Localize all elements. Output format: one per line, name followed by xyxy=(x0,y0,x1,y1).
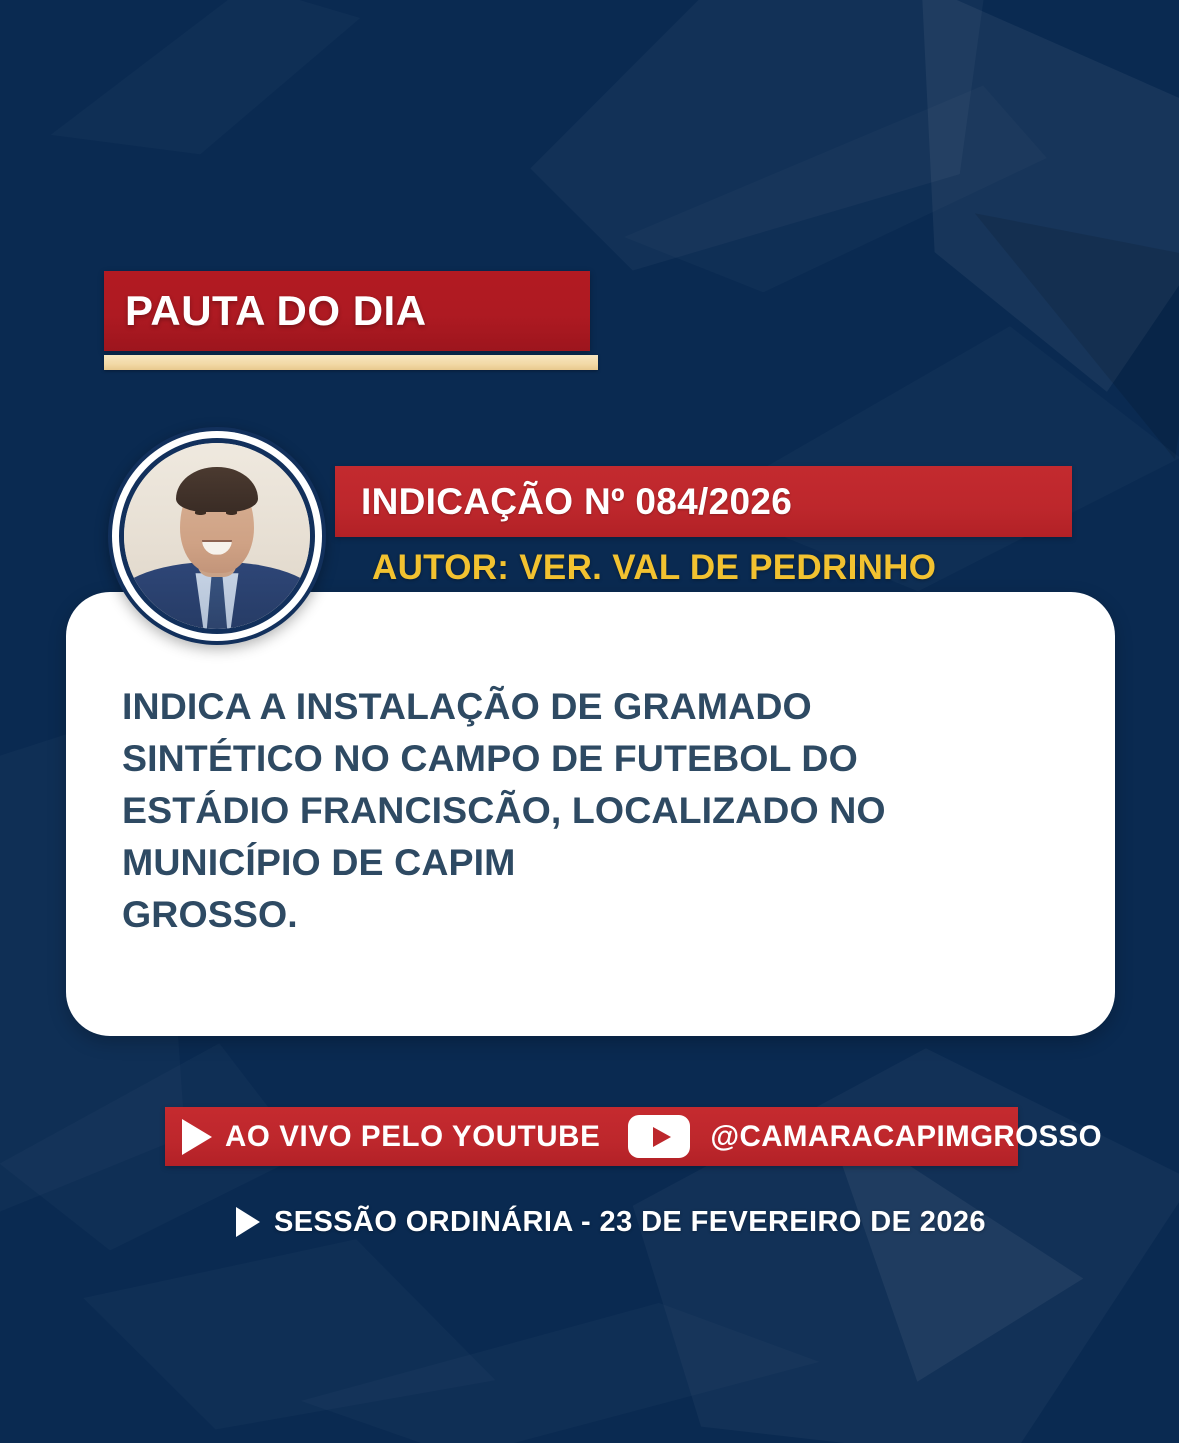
ementa-line: MUNICÍPIO DE CAPIM xyxy=(122,836,1052,888)
ementa-text: INDICA A INSTALAÇÃO DE GRAMADO SINTÉTICO… xyxy=(122,680,1052,940)
ementa-line: INDICA A INSTALAÇÃO DE GRAMADO xyxy=(122,680,1052,732)
background-texture-shape xyxy=(609,77,1060,312)
session-info: SESSÃO ORDINÁRIA - 23 DE FEVEREIRO DE 20… xyxy=(236,1200,986,1244)
ementa-line: SINTÉTICO NO CAMPO DE FUTEBOL DO xyxy=(122,732,1052,784)
live-label: AO VIVO PELO YOUTUBE xyxy=(225,1120,600,1154)
youtube-handle[interactable]: @CAMARACAPIMGROSSO xyxy=(710,1120,1102,1154)
session-label: SESSÃO ORDINÁRIA - 23 DE FEVEREIRO DE 20… xyxy=(274,1206,986,1239)
indicacao-number-label: INDICAÇÃO Nº 084/2026 xyxy=(335,481,792,523)
youtube-logo-icon xyxy=(628,1115,690,1158)
indicacao-number-band: INDICAÇÃO Nº 084/2026 xyxy=(335,466,1072,537)
author-label: AUTOR: VER. VAL DE PEDRINHO xyxy=(372,548,936,588)
ementa-card: INDICA A INSTALAÇÃO DE GRAMADO SINTÉTICO… xyxy=(66,592,1115,1036)
youtube-live-bar[interactable]: AO VIVO PELO YOUTUBE @CAMARACAPIMGROSSO xyxy=(165,1107,1018,1166)
ementa-line: GROSSO. xyxy=(122,888,1052,940)
avatar-photo xyxy=(124,443,310,629)
play-triangle-icon xyxy=(236,1207,260,1237)
pauta-do-dia-title: PAUTA DO DIA xyxy=(104,287,427,335)
background-texture-shape xyxy=(296,1292,824,1443)
poster-canvas: PAUTA DO DIA INDICAÇÃO Nº 084/2026 AUTOR… xyxy=(0,0,1179,1443)
background-texture-shape xyxy=(26,0,385,193)
portrait-eye-right xyxy=(226,510,237,515)
portrait-eye-left xyxy=(195,510,206,515)
background-texture-shape xyxy=(847,0,1179,416)
pauta-do-dia-banner: PAUTA DO DIA xyxy=(104,271,590,351)
background-texture-shape xyxy=(975,145,1179,495)
councilman-avatar xyxy=(108,427,326,645)
ementa-line: ESTÁDIO FRANCISCÃO, LOCALIZADO NO xyxy=(122,784,1052,836)
play-triangle-icon xyxy=(182,1119,212,1155)
banner-gold-underline xyxy=(104,355,598,370)
